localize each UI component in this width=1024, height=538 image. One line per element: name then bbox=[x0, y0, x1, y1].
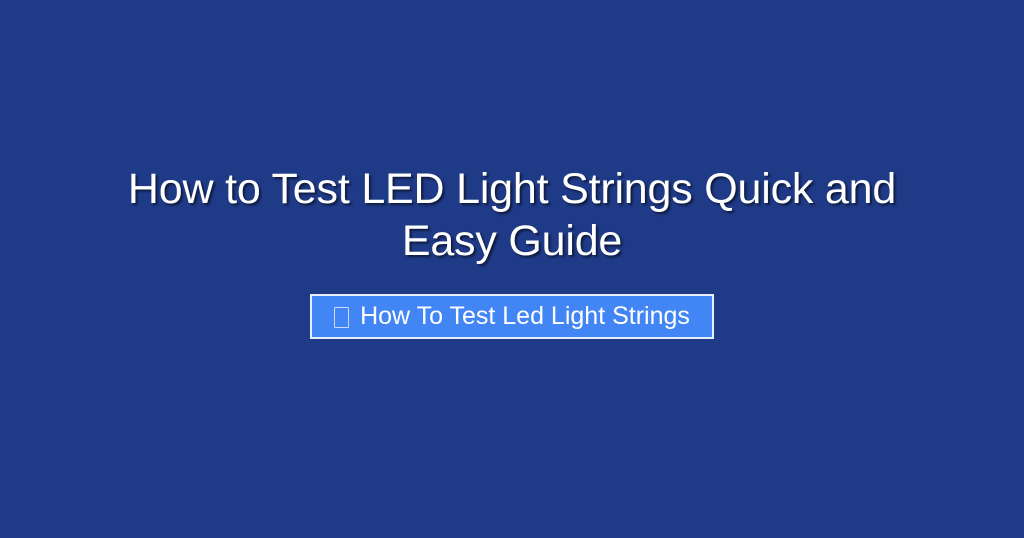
cta-container: How To Test Led Light Strings bbox=[0, 294, 1024, 339]
page-title: How to Test LED Light Strings Quick and … bbox=[82, 163, 942, 268]
content-stack: How to Test LED Light Strings Quick and … bbox=[0, 0, 1024, 538]
cta-button-label: How To Test Led Light Strings bbox=[360, 304, 690, 329]
missing-glyph-box-icon bbox=[334, 307, 349, 328]
page-root: How to Test LED Light Strings Quick and … bbox=[0, 0, 1024, 538]
headline-container: How to Test LED Light Strings Quick and … bbox=[82, 163, 942, 268]
cta-button[interactable]: How To Test Led Light Strings bbox=[310, 294, 714, 339]
